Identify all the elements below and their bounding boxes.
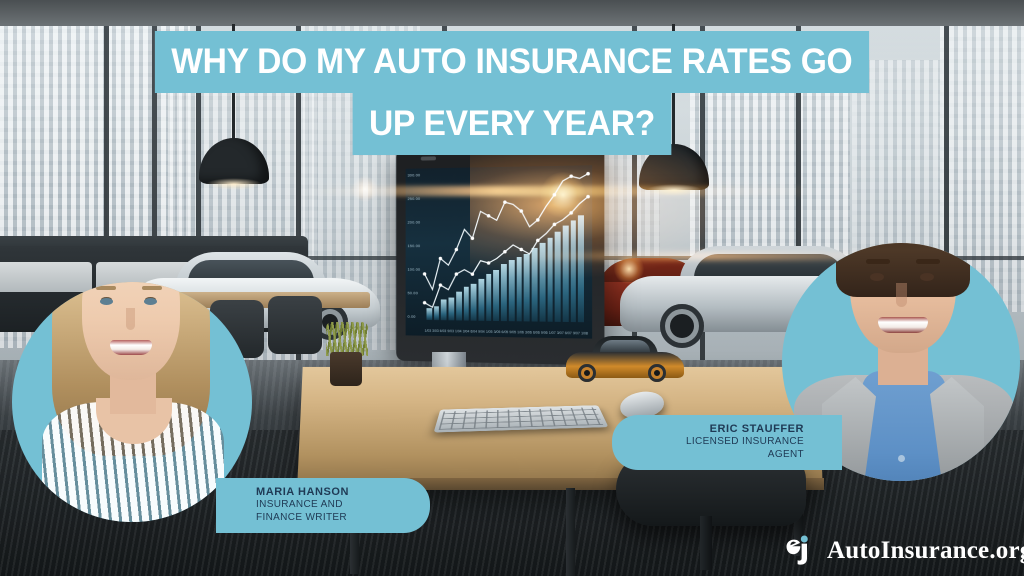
plant-leaves: [326, 322, 368, 356]
chart-x-tick-label: 6/05: [501, 330, 508, 334]
eye: [870, 273, 884, 281]
chart-x-tick-label: 9/03: [447, 329, 454, 333]
chart-x-tick-label: 9/07: [573, 331, 580, 335]
chart-point: [536, 239, 540, 243]
chart-x-tick-label: 3/06: [525, 330, 532, 334]
chart-y-tick-label: 300.00: [408, 172, 421, 177]
chart-y-tick-label: 100.00: [408, 267, 421, 272]
office-chair-stem: [700, 516, 712, 570]
chart-line: [425, 174, 588, 291]
expert-role-line-2: FINANCE WRITER: [256, 512, 416, 524]
chart-point: [536, 218, 540, 222]
expert-role-line-2: AGENT: [628, 449, 804, 461]
chart-point: [519, 209, 523, 213]
keyboard-keys: [439, 407, 604, 430]
chart-point: [519, 248, 523, 252]
chart-point: [423, 272, 426, 276]
model-car-desk-toy: [566, 336, 684, 382]
chart-point: [471, 272, 474, 276]
chart-x-tick-label: 1/05: [486, 330, 493, 334]
eyebrow: [96, 286, 116, 290]
chart-y-tick-label: 0.00: [408, 314, 416, 319]
name-pill-maria-hanson: MARIA HANSON INSURANCE AND FINANCE WRITE…: [216, 478, 430, 533]
model-car-wheel: [578, 364, 596, 382]
chart-point: [423, 301, 426, 305]
chart-y-tick-label: 250.00: [408, 196, 421, 201]
mouth: [110, 340, 152, 355]
site-logo[interactable]: AutoInsurance.org: [784, 534, 1024, 568]
model-car-wheel: [648, 364, 666, 382]
eyebrow: [866, 259, 890, 264]
ceiling-slab: [0, 0, 1024, 26]
lamp-glow: [206, 178, 262, 190]
chart-x-tick-label: 6/07: [565, 331, 572, 335]
name-pill-eric-stauffer: ERIC STAUFFER LICENSED INSURANCE AGENT: [612, 415, 842, 470]
mouth: [878, 317, 928, 333]
desk-leg: [566, 488, 575, 576]
eyebrow: [142, 286, 162, 290]
logo-wordmark: AutoInsurance.org: [827, 537, 1024, 565]
chart-line-series: [406, 165, 593, 332]
chart-point: [553, 193, 557, 197]
chart-point: [569, 211, 573, 215]
nose: [896, 283, 907, 307]
chart-x-tick-label: 6/04: [470, 330, 477, 334]
chart-point: [569, 174, 573, 178]
chart-x-tick-label: 1/07: [549, 331, 556, 335]
chart-point: [553, 223, 557, 227]
thumbnail-canvas: 1/033/036/039/031/043/046/049/041/053/05…: [0, 0, 1024, 576]
chart-y-tick-label: 50.00: [408, 290, 418, 295]
chart-x-tick-label: 9/06: [541, 331, 548, 335]
expert-role-line-1: LICENSED INSURANCE: [628, 436, 804, 448]
eye: [144, 298, 157, 305]
chart-y-tick-label: 150.00: [408, 243, 421, 248]
webcam-icon: [421, 156, 436, 160]
chart-point: [487, 261, 491, 265]
nose: [126, 308, 135, 330]
chart-x-tick-label: 1/08: [581, 331, 588, 335]
chart-point: [586, 195, 590, 199]
eye: [100, 298, 113, 305]
chart-point: [487, 214, 491, 218]
desktop-monitor: 1/033/036/039/031/043/046/049/041/053/05…: [396, 145, 604, 366]
chart-point: [439, 283, 442, 287]
chart-x-tick-label: 3/04: [463, 329, 470, 333]
chart-point: [503, 200, 507, 204]
chart-x-tick-label: 6/03: [440, 329, 447, 333]
chart-x-tick-label: 3/07: [557, 331, 564, 335]
chart-x-tick-label: 1/06: [517, 330, 524, 334]
chart-x-tick-label: 6/06: [533, 331, 540, 335]
chart-point: [455, 248, 458, 252]
chart-x-tick-label: 3/05: [494, 330, 501, 334]
lamp-glow: [646, 184, 702, 196]
chart-point: [471, 237, 474, 241]
chart-point: [455, 272, 458, 276]
chart-y-tick-label: 200.00: [408, 220, 421, 225]
ej-monogram-icon: [784, 534, 818, 568]
monitor-screen: 1/033/036/039/031/043/046/049/041/053/05…: [406, 165, 593, 338]
meeting-chair: [268, 296, 322, 354]
chart-x-tick-label: 3/03: [432, 329, 439, 333]
lamp-cord: [672, 24, 675, 148]
shirt-button: [898, 455, 905, 462]
chart-x-tick-label: 9/05: [509, 330, 516, 334]
lamp-cord: [232, 24, 235, 142]
blue-dress-shirt: [862, 371, 946, 481]
expert-role-line-1: INSURANCE AND: [256, 499, 416, 511]
chart-point: [586, 172, 590, 176]
chart-line: [425, 197, 588, 309]
chart-x-tick-label: 1/04: [455, 329, 462, 333]
eyebrow: [916, 259, 940, 264]
expert-name: ERIC STAUFFER: [628, 423, 804, 436]
chart-x-tick-label: 9/04: [478, 330, 485, 334]
chart-point: [503, 250, 507, 254]
plant-pot: [330, 352, 362, 386]
chart-x-tick-label: 1/03: [425, 329, 431, 333]
expert-name: MARIA HANSON: [256, 486, 416, 499]
chart-point: [439, 257, 442, 261]
eye: [920, 273, 934, 281]
